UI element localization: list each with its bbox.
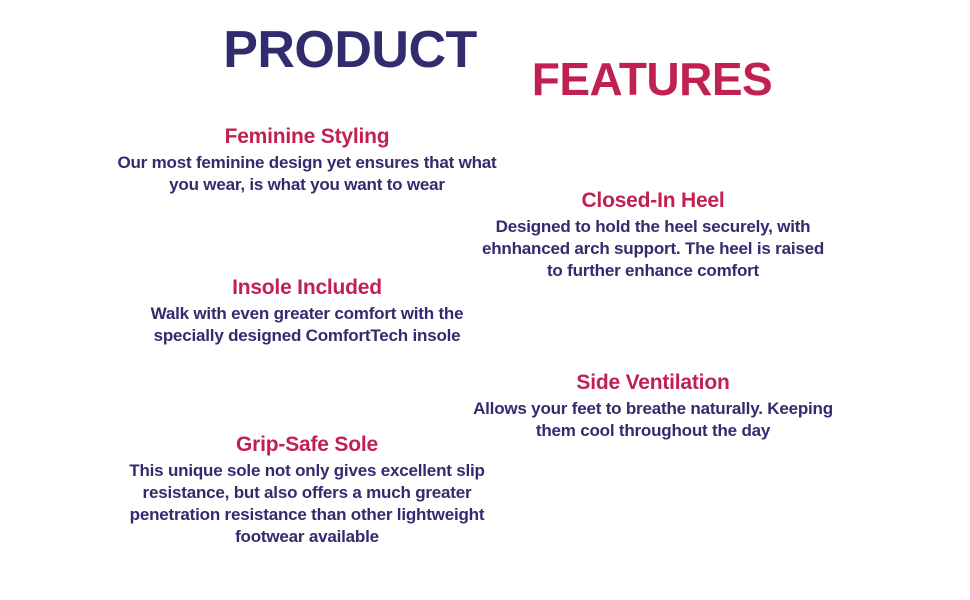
- feature-title-feminine-styling: Feminine Styling: [107, 124, 507, 150]
- feature-title-insole-included: Insole Included: [137, 275, 477, 301]
- feature-title-side-ventilation: Side Ventilation: [463, 370, 843, 396]
- feature-body-feminine-styling: Our most feminine design yet ensures tha…: [107, 152, 507, 196]
- feature-block-grip-safe-sole: Grip-Safe Sole This unique sole not only…: [117, 432, 497, 548]
- feature-block-insole-included: Insole Included Walk with even greater c…: [137, 275, 477, 347]
- feature-block-closed-in-heel: Closed-In Heel Designed to hold the heel…: [473, 188, 833, 282]
- feature-title-closed-in-heel: Closed-In Heel: [473, 188, 833, 214]
- feature-body-grip-safe-sole: This unique sole not only gives excellen…: [117, 460, 497, 548]
- feature-block-side-ventilation: Side Ventilation Allows your feet to bre…: [463, 370, 843, 442]
- feature-body-side-ventilation: Allows your feet to breathe naturally. K…: [463, 398, 843, 442]
- feature-block-feminine-styling: Feminine Styling Our most feminine desig…: [107, 124, 507, 196]
- feature-body-closed-in-heel: Designed to hold the heel securely, with…: [473, 216, 833, 282]
- feature-title-grip-safe-sole: Grip-Safe Sole: [117, 432, 497, 458]
- page-title-features: FEATURES: [302, 56, 970, 102]
- feature-body-insole-included: Walk with even greater comfort with the …: [137, 303, 477, 347]
- product-features-infographic: PRODUCT FEATURES Feminine Styling Our mo…: [0, 0, 970, 600]
